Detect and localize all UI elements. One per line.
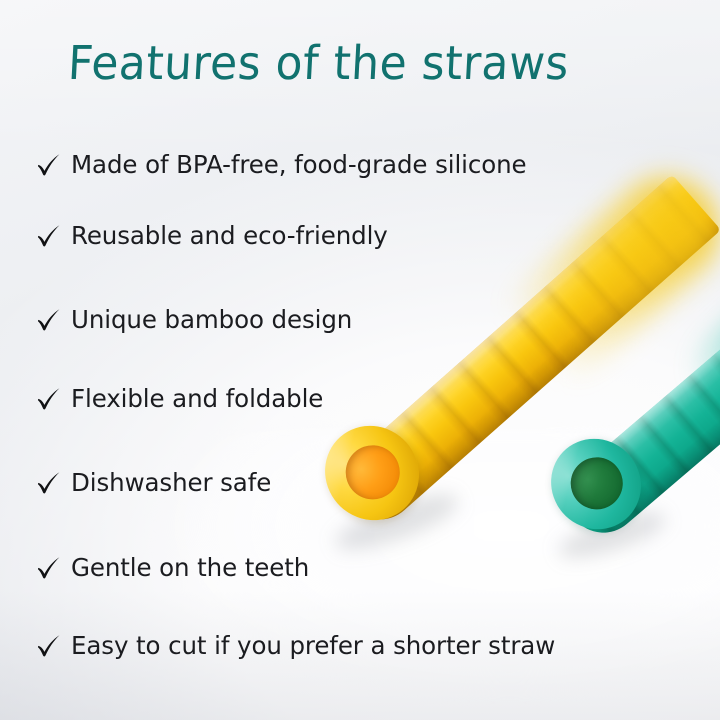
feature-label: Reusable and eco-friendly [71,221,388,250]
check-icon [36,307,62,333]
feature-label: Unique bamboo design [71,305,352,334]
feature-item: Dishwasher safe [36,468,271,497]
feature-item: Flexible and foldable [36,384,323,413]
feature-item: Unique bamboo design [36,305,352,334]
product-feature-graphic: Features of the straws Made of BPA-free,… [0,0,720,720]
check-icon [36,152,62,178]
feature-item: Reusable and eco-friendly [36,221,388,250]
feature-item: Easy to cut if you prefer a shorter stra… [36,631,555,660]
check-icon [36,223,62,249]
page-title: Features of the straws [67,36,571,90]
feature-label: Easy to cut if you prefer a shorter stra… [71,631,555,660]
feature-item: Made of BPA-free, food-grade silicone [36,150,527,179]
check-icon [36,386,62,412]
check-icon [36,470,62,496]
feature-label: Gentle on the teeth [71,553,309,582]
feature-label: Flexible and foldable [71,384,323,413]
check-icon [36,633,62,659]
feature-label: Dishwasher safe [71,468,271,497]
feature-item: Gentle on the teeth [36,553,309,582]
feature-label: Made of BPA-free, food-grade silicone [71,150,527,179]
check-icon [36,555,62,581]
text-layer: Features of the straws Made of BPA-free,… [0,0,720,720]
